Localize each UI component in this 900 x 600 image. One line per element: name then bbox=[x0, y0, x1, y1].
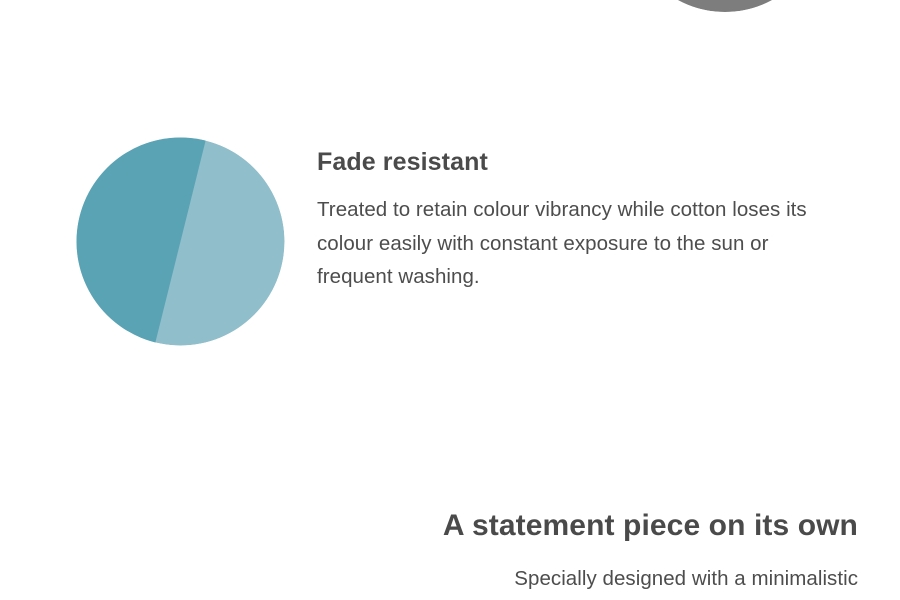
statement-piece-body-text: Specially designed with a minimalistic bbox=[514, 562, 858, 596]
feature-section-stain-resistant: while cotton absorbs stains more easily. bbox=[0, 0, 900, 68]
fade-resistant-heading: Fade resistant bbox=[317, 147, 817, 177]
product-feature-page: while cotton absorbs stains more easily. bbox=[0, 0, 900, 600]
feature-section-statement-piece: A statement piece on its own Specially d… bbox=[0, 500, 900, 600]
fade-resistant-text-column: Fade resistant Treated to retain colour … bbox=[317, 147, 817, 294]
fade-circle-icon bbox=[76, 137, 285, 346]
stain-droplet-circle-illustration bbox=[625, 0, 825, 13]
colour-fade-split-circle-illustration bbox=[76, 137, 285, 346]
fade-resistant-body-text: Treated to retain colour vibrancy while … bbox=[317, 193, 807, 294]
statement-piece-heading: A statement piece on its own bbox=[443, 507, 858, 545]
feature-section-fade-resistant: Fade resistant Treated to retain colour … bbox=[0, 137, 900, 357]
stain-circle-icon bbox=[625, 0, 825, 13]
